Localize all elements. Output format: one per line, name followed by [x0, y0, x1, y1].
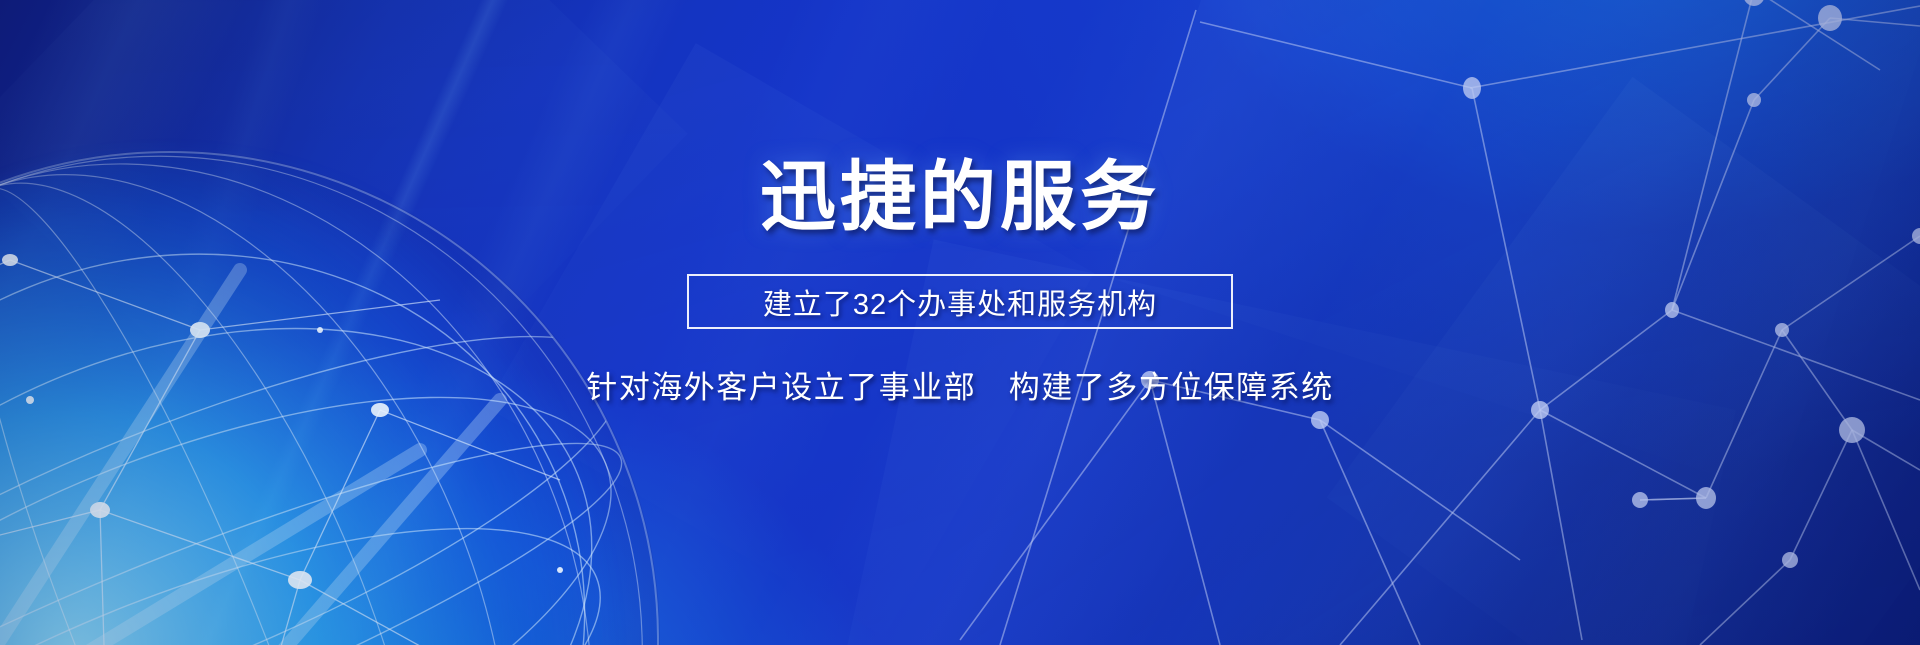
highlight-box-label: 建立了32个办事处和服务机构: [763, 281, 1157, 323]
page-title: 迅捷的服务: [760, 160, 1160, 236]
hero-banner: 迅捷的服务 建立了32个办事处和服务机构 针对海外客户设立了事业部 构建了多方位…: [0, 0, 1920, 645]
highlight-box: 建立了32个办事处和服务机构: [687, 274, 1233, 329]
subtitle-tagline: 针对海外客户设立了事业部 构建了多方位保障系统: [586, 362, 1334, 407]
banner-content: 迅捷的服务 建立了32个办事处和服务机构 针对海外客户设立了事业部 构建了多方位…: [0, 0, 1920, 645]
